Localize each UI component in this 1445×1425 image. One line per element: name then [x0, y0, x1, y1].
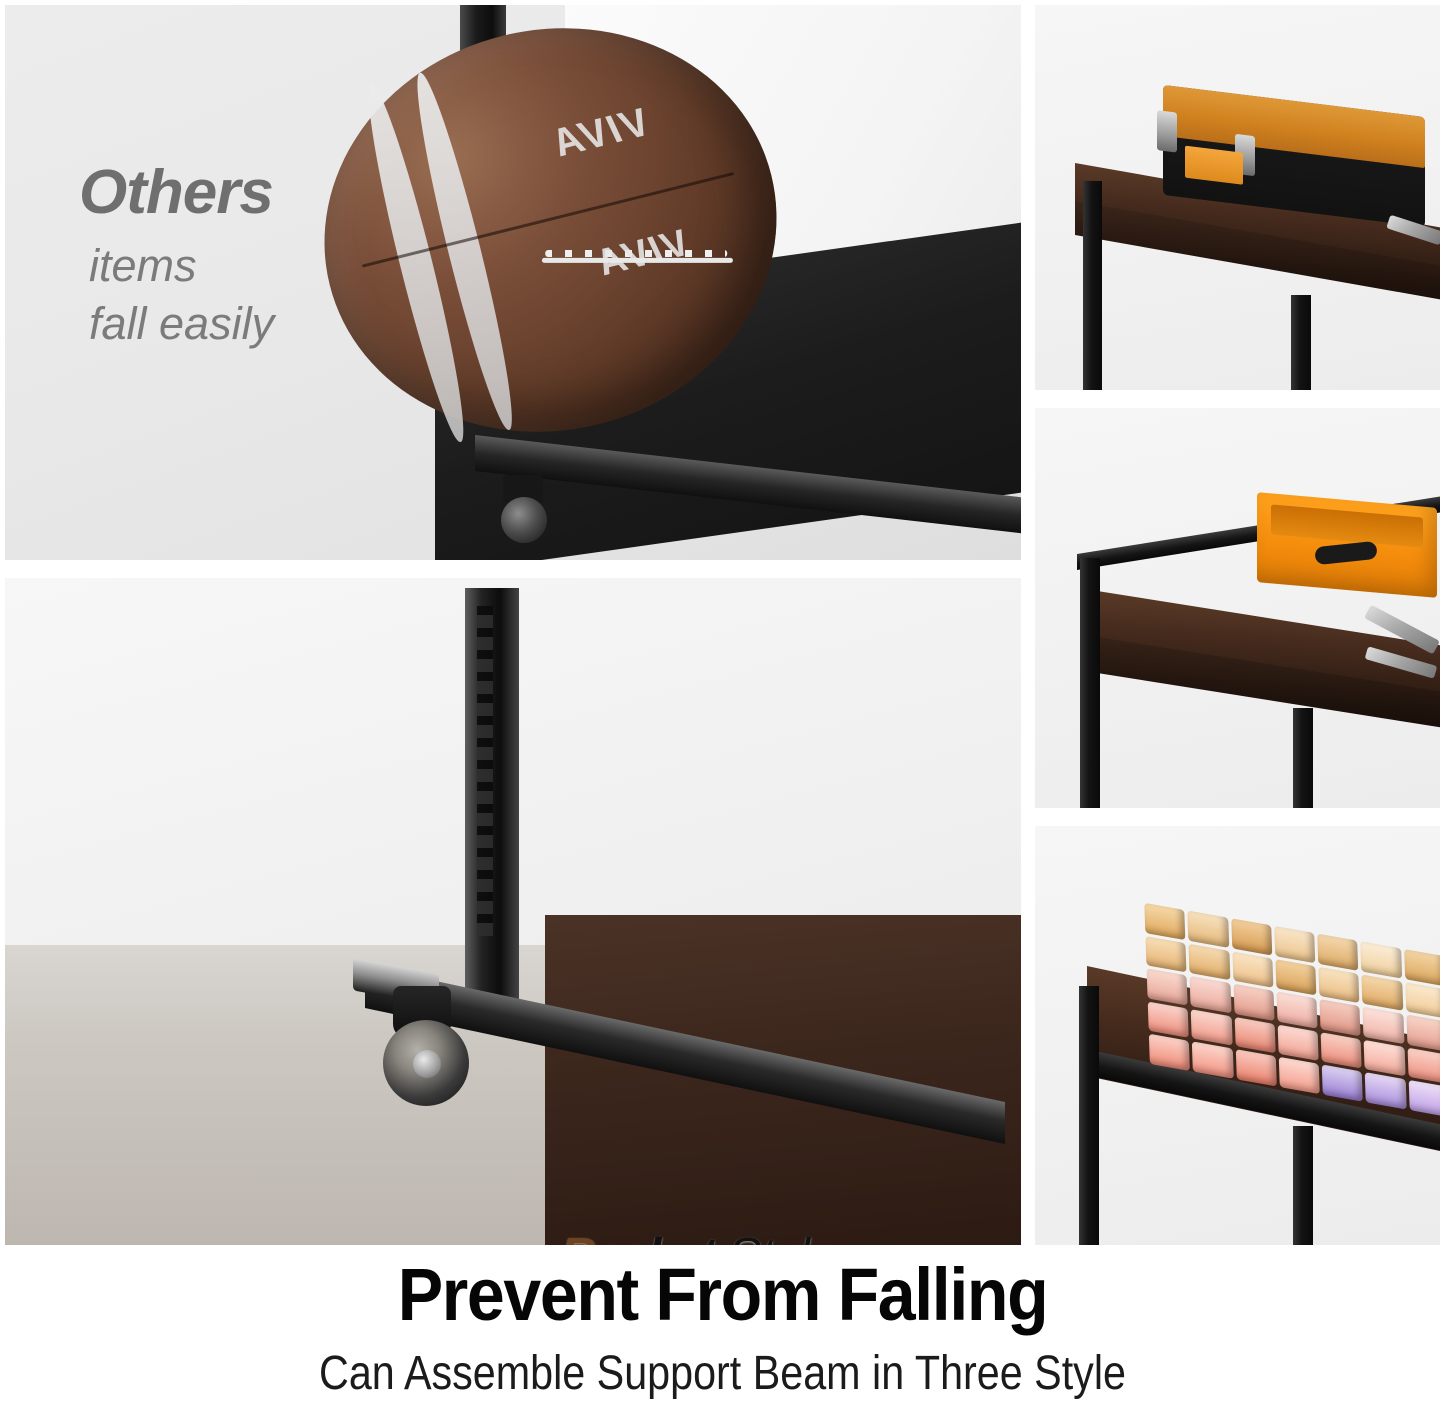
- orange-bin-opening: [1271, 504, 1422, 548]
- others-copy-block: Others items fall easily: [79, 160, 274, 352]
- others-subtext: items fall easily: [89, 237, 274, 352]
- workbench-leg-left: [1080, 558, 1100, 808]
- others-heading: Others: [79, 160, 274, 225]
- rack-leg-left: [1079, 986, 1099, 1245]
- bottom-caption: Prevent From Falling Can Assemble Suppor…: [0, 1258, 1445, 1398]
- tool-organizer-clasp-left: [1157, 110, 1177, 152]
- basket-style-label: Basket Style: [561, 1228, 837, 1245]
- basket-style-label-light: Style: [728, 1229, 837, 1245]
- panel-ours-photo: VIVA Basket Style Ours Prevent items fro…: [5, 578, 1021, 1245]
- workbench-leg-right: [1291, 295, 1311, 390]
- workbench-leg-left: [1083, 181, 1102, 390]
- panel-blended-one-photo: Blended I: [1035, 408, 1440, 808]
- rack-leg-right: [1293, 1126, 1313, 1245]
- panel-others-photo: VIVA VIVA Others items fall easily: [5, 5, 1021, 560]
- panel-blended-two-photo: Blended II: [1035, 826, 1440, 1245]
- workbench-leg-right: [1293, 708, 1313, 808]
- caster-wheel-disc: [501, 497, 547, 543]
- caption-subline: Can Assemble Support Beam in Three Style: [101, 1350, 1344, 1398]
- basket-style-label-bold: asket: [595, 1229, 715, 1245]
- caster-wheel: [493, 475, 555, 545]
- caster-hub: [413, 1050, 441, 1078]
- basket-style-label-accent: B: [561, 1229, 595, 1245]
- caster-wheel-assembly: [353, 966, 543, 1096]
- ball-brand-text: VIVA: [547, 100, 653, 167]
- tool-organizer-drawer: [1185, 146, 1243, 185]
- product-infographic: VIVA VIVA Others items fall easily VIVA: [0, 0, 1445, 1425]
- caption-headline: Prevent From Falling: [58, 1258, 1387, 1332]
- shelf-upright-post: [465, 588, 519, 1018]
- ball-brand-text-second: VIVA: [592, 222, 693, 286]
- panel-basic-photo: Basic: [1035, 5, 1440, 390]
